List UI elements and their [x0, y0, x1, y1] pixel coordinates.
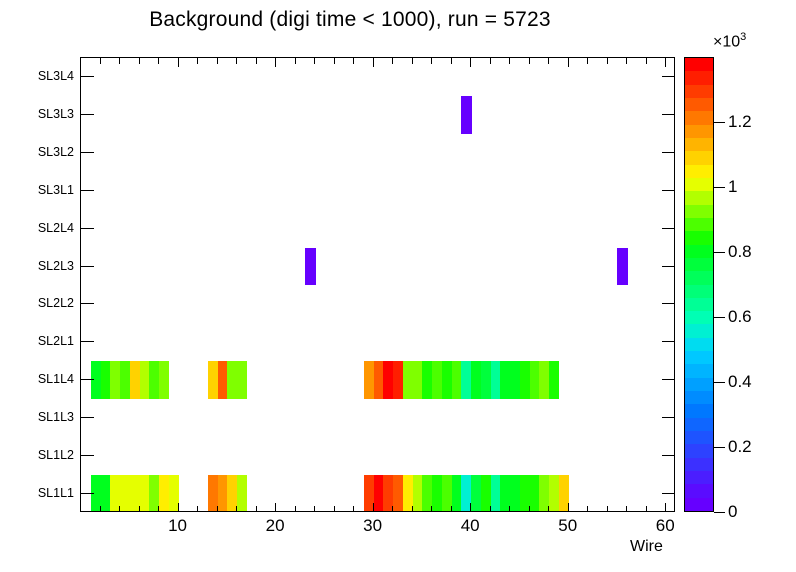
heatmap-cell — [91, 361, 101, 399]
palette-band — [685, 124, 713, 138]
x-axis-minor-tick — [529, 506, 530, 512]
x-axis-tick-top — [197, 58, 198, 64]
z-axis-tick-label-0: 0 — [728, 502, 737, 522]
x-axis-minor-tick — [197, 506, 198, 512]
heatmap-cell — [530, 475, 540, 511]
x-axis-minor-tick — [119, 506, 120, 512]
heatmap-cell — [422, 361, 432, 399]
y-axis-tick-right — [662, 379, 675, 380]
heatmap-cell — [432, 475, 442, 511]
z-axis-tick — [714, 317, 725, 318]
palette-band — [685, 457, 713, 471]
z-axis-tick-label-400: 0.4 — [728, 372, 752, 392]
y-axis-tick-label-sl2l3: SL2L3 — [38, 259, 74, 273]
y-axis-tick — [81, 379, 94, 380]
x-axis-major-tick — [178, 503, 179, 512]
x-axis-tick-top — [529, 58, 530, 64]
z-axis-tick-label-600: 0.6 — [728, 307, 752, 327]
x-axis-tick-top — [373, 58, 374, 67]
y-axis-tick-right — [662, 266, 675, 267]
x-axis-tick-top — [470, 58, 471, 67]
heatmap-cell — [393, 361, 403, 399]
palette-band — [685, 151, 713, 165]
heatmap-cell — [549, 475, 559, 511]
x-axis-minor-tick — [392, 506, 393, 512]
y-axis-tick-right — [662, 455, 675, 456]
y-axis-tick — [81, 266, 94, 267]
z-axis-tick-label-800: 0.8 — [728, 242, 752, 262]
palette-band — [685, 204, 713, 218]
heatmap-cell — [491, 475, 501, 511]
x-axis-minor-tick — [548, 506, 549, 512]
heatmap-cell — [159, 361, 169, 399]
x-axis-major-tick — [373, 503, 374, 512]
y-axis-tick-label-sl2l2: SL2L2 — [38, 296, 74, 310]
z-axis-tick — [714, 447, 725, 448]
palette-band — [685, 444, 713, 458]
palette-band — [685, 364, 713, 378]
heatmap-cell — [110, 361, 120, 399]
heatmap-cell — [374, 475, 384, 511]
palette-band — [685, 271, 713, 285]
heatmap-cell — [101, 475, 111, 511]
x-axis-tick-top — [295, 58, 296, 64]
x-axis-tick-label-30: 30 — [363, 516, 382, 536]
y-axis-tick — [81, 455, 94, 456]
palette-band — [685, 71, 713, 85]
heatmap-cell — [461, 361, 471, 399]
x-axis-tick-top — [256, 58, 257, 64]
x-axis-minor-tick — [646, 506, 647, 512]
x-axis-minor-tick — [139, 506, 140, 512]
x-axis-tick-top — [353, 58, 354, 64]
palette-band — [685, 257, 713, 271]
x-axis-tick-top — [217, 58, 218, 64]
x-axis-tick-label-20: 20 — [266, 516, 285, 536]
y-axis-tick — [81, 152, 94, 153]
heatmap-cell — [149, 361, 159, 399]
y-axis-tick — [81, 417, 94, 418]
x-axis-tick-top — [178, 58, 179, 67]
x-axis-major-tick — [470, 503, 471, 512]
palette-band — [685, 351, 713, 365]
heatmap-cell — [140, 475, 150, 511]
palette-band — [685, 324, 713, 338]
palette-band — [685, 337, 713, 351]
y-axis-tick-label-sl3l1: SL3L1 — [38, 183, 74, 197]
x-axis-minor-tick — [587, 506, 588, 512]
x-axis-minor-tick — [236, 506, 237, 512]
palette-band — [685, 391, 713, 405]
heatmap-cell — [481, 361, 491, 399]
heatmap-cell — [159, 475, 169, 511]
x-axis-tick-top — [275, 58, 276, 67]
x-axis-tick-label-10: 10 — [168, 516, 187, 536]
x-axis-tick-label-40: 40 — [461, 516, 480, 536]
x-axis-tick-top — [431, 58, 432, 64]
heatmap-cell — [218, 475, 228, 511]
x-axis-tick-top — [158, 58, 159, 64]
y-axis-tick-right — [662, 76, 675, 77]
palette-band — [685, 177, 713, 191]
x-axis-tick-top — [490, 58, 491, 64]
x-axis-tick-top — [100, 58, 101, 64]
y-axis-tick — [81, 493, 94, 494]
x-axis-tick-top — [412, 58, 413, 64]
y-axis-tick — [81, 228, 94, 229]
heatmap-cell — [130, 361, 140, 399]
palette-band — [685, 430, 713, 444]
x-axis-tick-top — [236, 58, 237, 64]
heatmap-cell — [218, 361, 228, 399]
palette-band — [685, 231, 713, 245]
palette-band — [685, 164, 713, 178]
x-axis-tick-top — [314, 58, 315, 64]
color-palette-bar — [684, 57, 714, 512]
palette-band — [685, 484, 713, 498]
palette-band — [685, 417, 713, 431]
y-axis-tick-right — [662, 190, 675, 191]
z-axis-tick — [714, 187, 725, 188]
x-axis-tick-top — [626, 58, 627, 64]
palette-band — [685, 111, 713, 125]
heatmap-cell — [452, 475, 462, 511]
y-axis-tick-label-sl2l1: SL2L1 — [38, 334, 74, 348]
z-axis-tick — [714, 512, 725, 513]
x-axis-tick-top — [646, 58, 647, 64]
heatmap-cell — [120, 475, 130, 511]
heatmap-cell — [374, 361, 384, 399]
palette-band — [685, 284, 713, 298]
x-axis-major-tick — [275, 503, 276, 512]
heatmap-cell — [510, 361, 520, 399]
x-axis-minor-tick — [100, 506, 101, 512]
heatmap-cell — [208, 361, 218, 399]
heatmap-cell — [471, 361, 481, 399]
y-axis-tick-label-sl1l3: SL1L3 — [38, 410, 74, 424]
z-axis-tick-label-1000: 1 — [728, 177, 737, 197]
x-axis-minor-tick — [158, 506, 159, 512]
palette-band — [685, 137, 713, 151]
heatmap-cell — [617, 248, 627, 286]
y-axis-tick-right — [662, 114, 675, 115]
x-axis-tick-top — [568, 58, 569, 67]
heatmap-cell — [403, 361, 413, 399]
y-axis-tick-label-sl1l2: SL1L2 — [38, 448, 74, 462]
z-axis-tick-label-200: 0.2 — [728, 437, 752, 457]
x-axis-tick-top — [665, 58, 666, 67]
x-axis-minor-tick — [626, 506, 627, 512]
z-axis-tick — [714, 382, 725, 383]
y-axis-tick-right — [662, 152, 675, 153]
palette-band — [685, 470, 713, 484]
x-axis-minor-tick — [314, 506, 315, 512]
y-axis-tick — [81, 76, 94, 77]
page-title: Background (digi time < 1000), run = 572… — [0, 8, 700, 32]
x-axis-minor-tick — [490, 506, 491, 512]
heatmap-cell — [471, 475, 481, 511]
palette-band — [685, 191, 713, 205]
y-axis-tick-right — [662, 303, 675, 304]
x-axis-minor-tick — [217, 506, 218, 512]
x-axis-tick-top — [392, 58, 393, 64]
x-axis-minor-tick — [256, 506, 257, 512]
palette-band — [685, 217, 713, 231]
z-axis-tick — [714, 252, 725, 253]
x-axis-minor-tick — [334, 506, 335, 512]
palette-band — [685, 311, 713, 325]
y-axis-tick-label-sl2l4: SL2L4 — [38, 221, 74, 235]
heatmap-cell — [413, 361, 423, 399]
y-axis-tick-right — [662, 493, 675, 494]
x-axis-tick-top — [334, 58, 335, 64]
heatmap-cell — [140, 361, 150, 399]
heatmap-cell — [393, 475, 403, 511]
y-axis-tick-right — [662, 341, 675, 342]
heatmap-cell — [491, 361, 501, 399]
y-axis-tick-label-sl1l4: SL1L4 — [38, 372, 74, 386]
x-axis-tick-top — [548, 58, 549, 64]
palette-band — [685, 57, 713, 71]
heatmap-cell — [413, 475, 423, 511]
z-axis-exponent: ×103 — [713, 31, 746, 51]
heatmap-cell — [452, 361, 462, 399]
palette-band — [685, 84, 713, 98]
heatmap-cell — [549, 361, 559, 399]
heatmap-cells — [81, 58, 674, 511]
palette-band — [685, 404, 713, 418]
x-axis-minor-tick — [412, 506, 413, 512]
palette-band — [685, 97, 713, 111]
heatmap-cell — [510, 475, 520, 511]
x-axis-minor-tick — [353, 506, 354, 512]
x-axis-major-tick — [568, 503, 569, 512]
x-axis-tick-top — [139, 58, 140, 64]
heatmap-cell — [120, 361, 130, 399]
x-axis-tick-label-60: 60 — [656, 516, 675, 536]
x-axis-tick-top — [451, 58, 452, 64]
z-axis-tick — [714, 122, 725, 123]
palette-band — [685, 297, 713, 311]
x-axis-minor-tick — [451, 506, 452, 512]
heatmap-cell — [461, 96, 471, 134]
x-axis-tick-top — [119, 58, 120, 64]
y-axis-tick — [81, 190, 94, 191]
z-exponent-base: ×10 — [713, 33, 740, 50]
heatmap-cell — [305, 248, 315, 286]
heatmap-cell — [237, 361, 247, 399]
heatmap-cell — [227, 361, 237, 399]
root-canvas: Background (digi time < 1000), run = 572… — [0, 0, 796, 572]
x-axis-tick-top — [587, 58, 588, 64]
x-axis-minor-tick — [295, 506, 296, 512]
x-axis-minor-tick — [607, 506, 608, 512]
heatmap-cell — [500, 361, 510, 399]
plot-frame — [80, 57, 675, 512]
heatmap-cell — [101, 361, 111, 399]
x-axis-minor-tick — [431, 506, 432, 512]
y-axis-tick-label-sl3l4: SL3L4 — [38, 69, 74, 83]
y-axis-tick — [81, 303, 94, 304]
y-axis-tick — [81, 114, 94, 115]
x-axis-tick-top — [607, 58, 608, 64]
y-axis-tick-label-sl3l3: SL3L3 — [38, 107, 74, 121]
x-axis-title: Wire — [630, 538, 663, 556]
z-exponent-power: 3 — [740, 31, 746, 43]
heatmap-cell — [383, 361, 393, 399]
heatmap-cell — [442, 361, 452, 399]
y-axis-tick — [81, 341, 94, 342]
heatmap-cell — [530, 361, 540, 399]
x-axis-minor-tick — [80, 506, 81, 512]
heatmap-cell — [237, 475, 247, 511]
x-axis-tick-top — [80, 58, 81, 64]
palette-band — [685, 244, 713, 258]
x-axis-major-tick — [665, 503, 666, 512]
z-axis-tick-label-1200: 1.2 — [728, 112, 752, 132]
x-axis-tick-label-50: 50 — [558, 516, 577, 536]
y-axis-tick-label-sl1l1: SL1L1 — [38, 486, 74, 500]
x-axis-minor-tick — [509, 506, 510, 512]
x-axis-tick-top — [509, 58, 510, 64]
heatmap-cell — [432, 361, 442, 399]
heatmap-cell — [539, 361, 549, 399]
heatmap-cell — [520, 361, 530, 399]
palette-band — [685, 377, 713, 391]
heatmap-cell — [364, 361, 374, 399]
palette-band — [685, 497, 713, 511]
y-axis-tick-label-sl3l2: SL3L2 — [38, 145, 74, 159]
y-axis-tick-right — [662, 417, 675, 418]
y-axis-tick-right — [662, 228, 675, 229]
